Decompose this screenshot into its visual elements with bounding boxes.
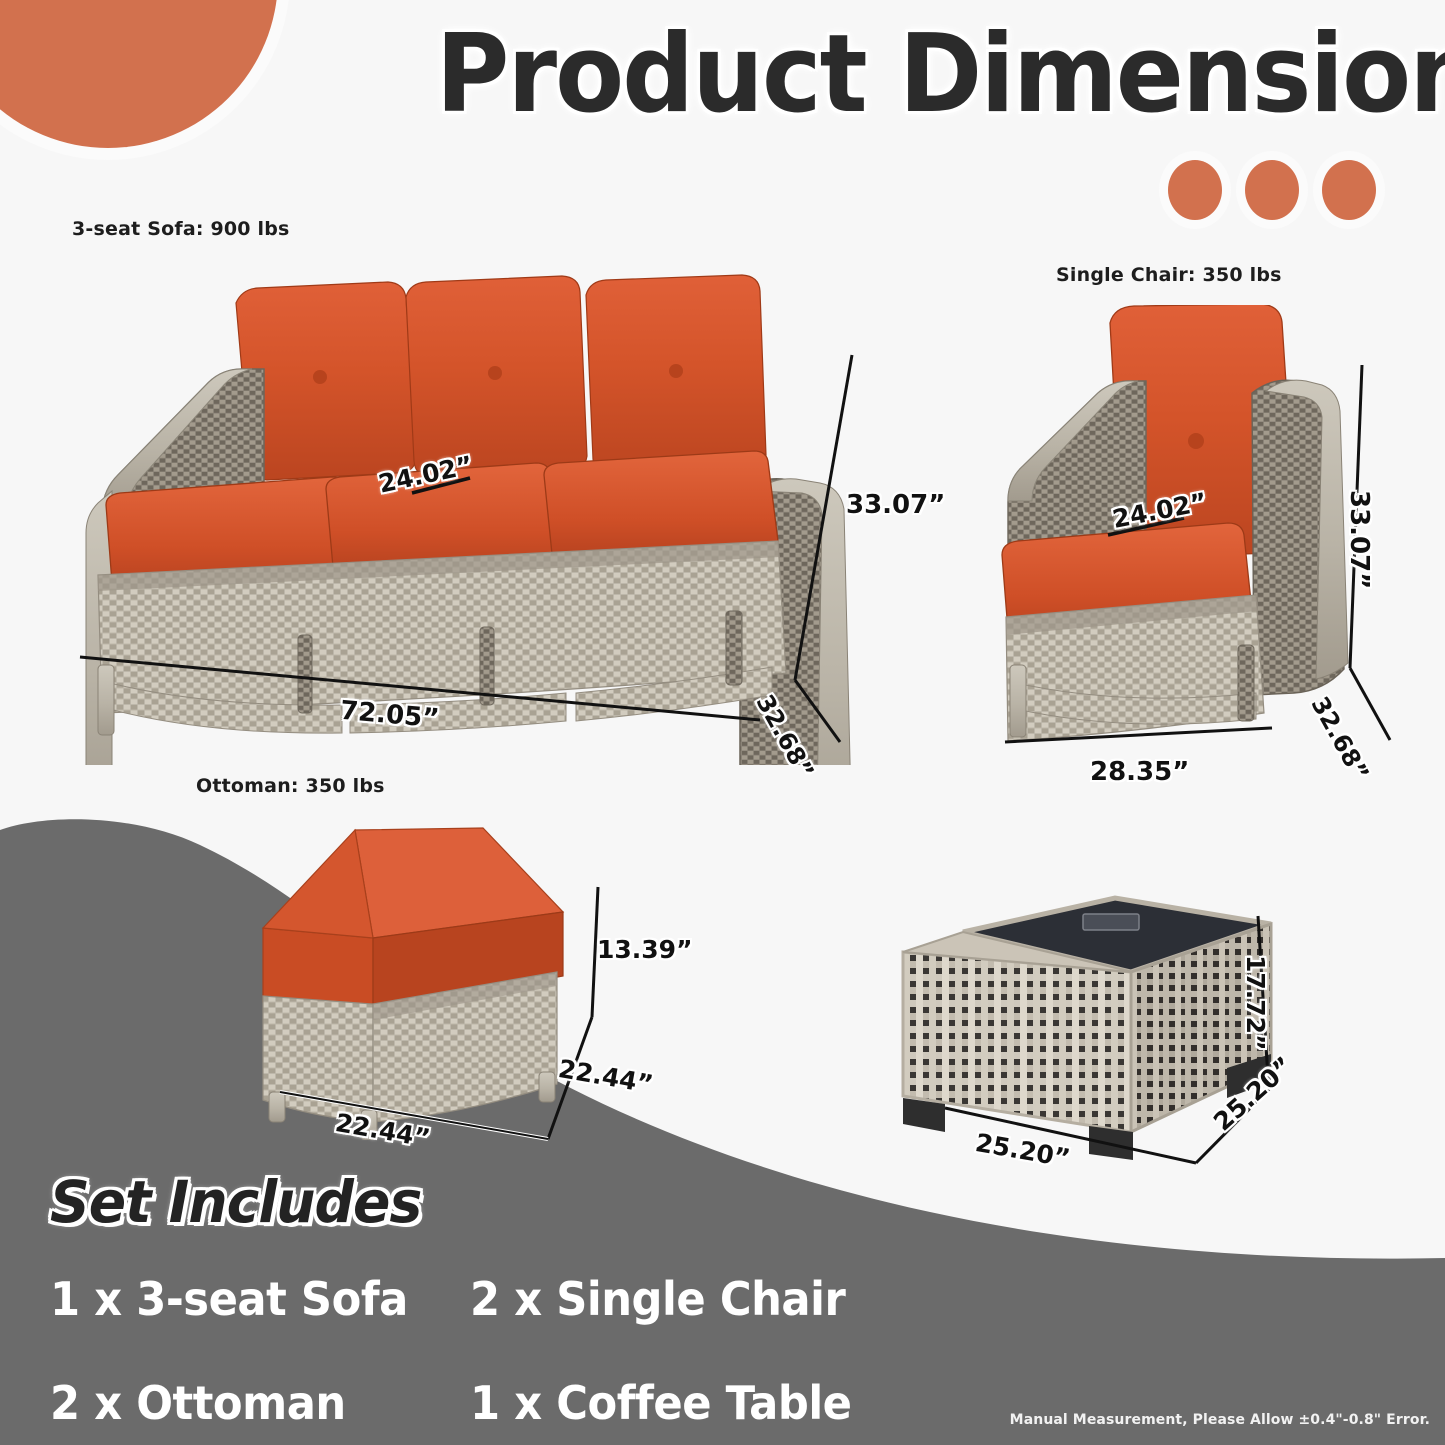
set-includes-title: Set Includes xyxy=(50,1168,421,1236)
sofa-illustration xyxy=(40,265,900,765)
ottoman-illustration xyxy=(255,810,595,1140)
ottoman-height-label: 13.39” xyxy=(597,935,693,964)
chair-width-label: 28.35” xyxy=(1090,757,1189,787)
sofa-caption: 3-seat Sofa: 900 lbs xyxy=(72,218,290,240)
sofa-back-cushions xyxy=(236,275,766,480)
set-item-ottoman: 2 x Ottoman xyxy=(50,1376,445,1430)
infographic-canvas: Product Dimension 3-seat Sofa: 900 lbs xyxy=(0,0,1445,1445)
set-includes-list: 1 x 3-seat Sofa 2 x Single Chair 2 x Ott… xyxy=(50,1272,880,1430)
decorative-dot-1 xyxy=(1168,160,1222,220)
page-title: Product Dimension xyxy=(436,18,1385,131)
decorative-dot-2 xyxy=(1245,160,1299,220)
chair-caption: Single Chair: 350 lbs xyxy=(1056,264,1282,286)
measurement-disclaimer: Manual Measurement, Please Allow ±0.4"-0… xyxy=(1010,1412,1430,1428)
set-item-coffee-table: 1 x Coffee Table xyxy=(470,1376,855,1430)
coffee-table-height-label: 17.72” xyxy=(1241,955,1270,1051)
chair-illustration xyxy=(1000,305,1380,755)
ottoman-caption: Ottoman: 350 lbs xyxy=(196,775,385,797)
decorative-dots xyxy=(1168,160,1376,220)
chair-height-label: 33.07” xyxy=(1344,490,1374,589)
set-item-chair: 2 x Single Chair xyxy=(470,1272,855,1326)
sofa-height-label: 33.07” xyxy=(846,490,945,520)
decorative-dot-3 xyxy=(1322,160,1376,220)
set-item-sofa: 1 x 3-seat Sofa xyxy=(50,1272,445,1326)
